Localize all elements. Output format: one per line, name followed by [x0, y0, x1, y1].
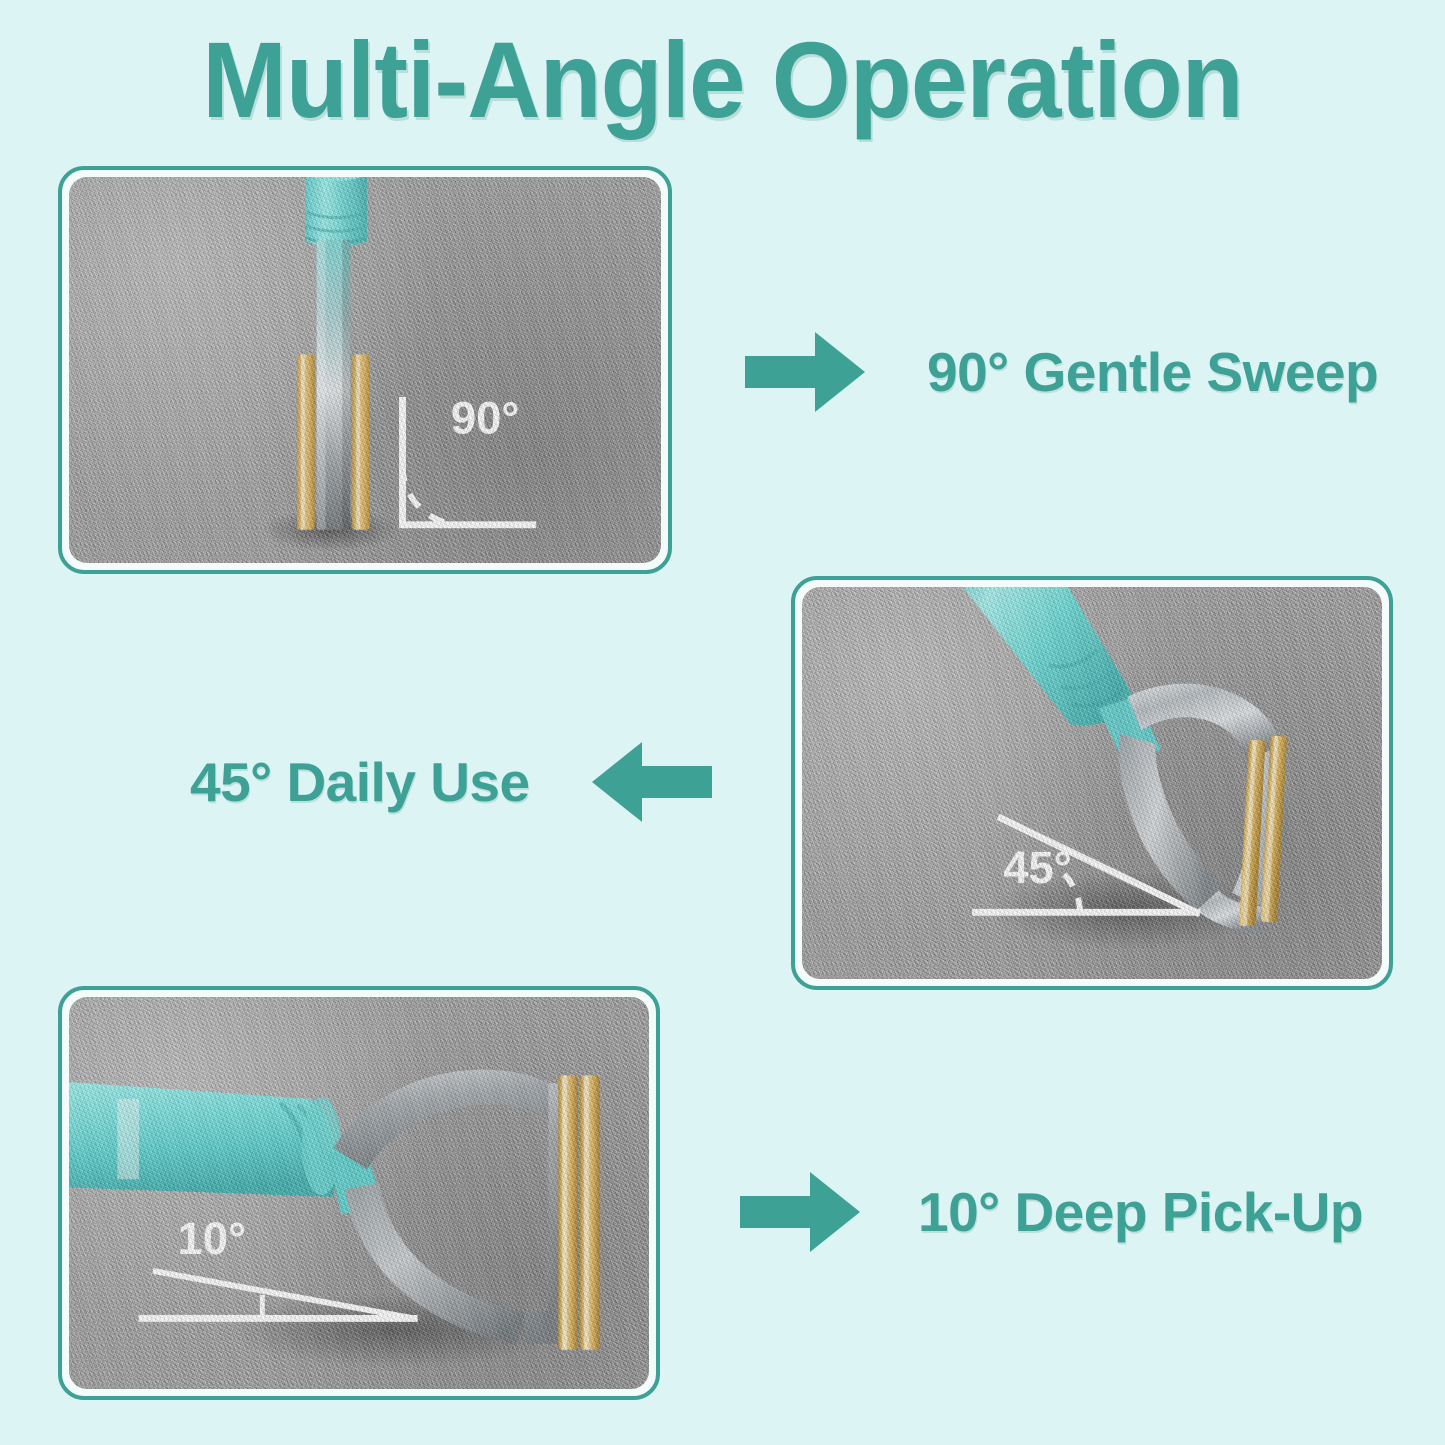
carpet-photo-10: 10°: [69, 997, 649, 1389]
arrow-left-icon: [592, 740, 712, 824]
angle-text-90: 90°: [451, 393, 520, 444]
infographic-page: Multi-Angle Operation: [0, 0, 1445, 1445]
panel-10-degree: 10°: [58, 986, 660, 1400]
panel-45-degree: 45°: [791, 576, 1393, 990]
panel-90-degree: 90°: [58, 166, 672, 574]
angle-marker-90: 90°: [69, 177, 661, 563]
callout-10-label: 10° Deep Pick-Up: [918, 1180, 1363, 1244]
angle-marker-10: 10°: [69, 997, 649, 1389]
callout-45-label: 45° Daily Use: [190, 750, 530, 814]
page-title: Multi-Angle Operation: [43, 24, 1401, 136]
angle-text-45: 45°: [1003, 842, 1072, 893]
carpet-photo-45: 45°: [802, 587, 1382, 979]
angle-text-10: 10°: [178, 1213, 247, 1264]
callout-10-degree: 10° Deep Pick-Up: [740, 1170, 1363, 1254]
angle-marker-45: 45°: [802, 587, 1382, 979]
callout-45-degree: 45° Daily Use: [190, 740, 712, 824]
arrow-right-icon: [745, 330, 865, 414]
carpet-photo-90: 90°: [69, 177, 661, 563]
arrow-right-icon: [740, 1170, 860, 1254]
callout-90-label: 90° Gentle Sweep: [927, 340, 1378, 404]
callout-90-degree: 90° Gentle Sweep: [745, 330, 1378, 414]
